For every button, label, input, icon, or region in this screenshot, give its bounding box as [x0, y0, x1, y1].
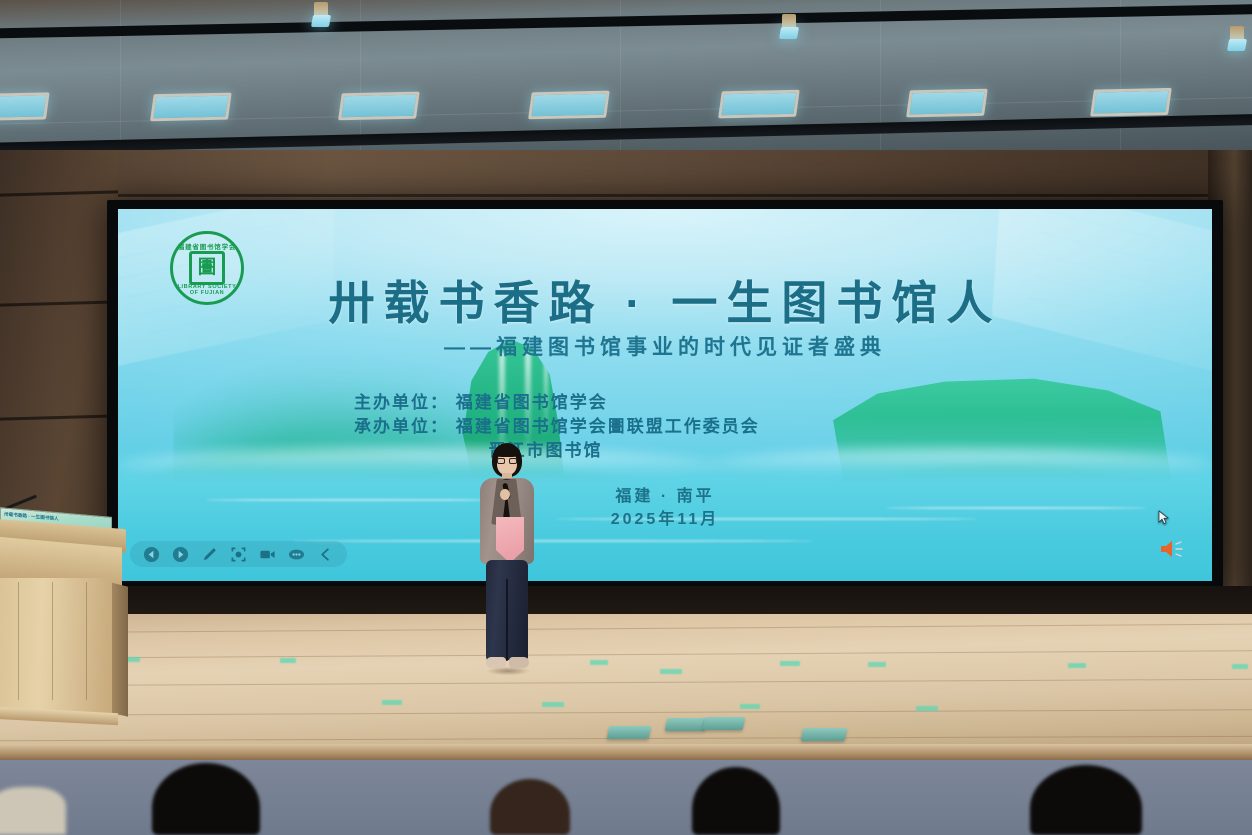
more-options-button[interactable]	[288, 546, 305, 563]
ceiling-spotlight	[780, 14, 798, 40]
collapse-toolbar-button[interactable]	[317, 546, 334, 563]
audience-head	[490, 779, 570, 835]
presenter-speaker	[470, 443, 542, 678]
ceiling-spotlight	[1228, 26, 1246, 52]
audience-head	[692, 767, 780, 835]
presentation-screen[interactable]: 福建省图书馆学会 圕 LIBRARY SOCIETY OF FUJIAN 卅载书…	[118, 209, 1212, 581]
stage-floor-plate	[607, 726, 652, 739]
stage-floor-plate	[665, 718, 708, 731]
next-slide-button[interactable]	[172, 546, 189, 563]
slide-place: 福建 · 南平 2025年11月	[118, 485, 1212, 531]
ceiling-spotlight	[312, 2, 330, 28]
pen-tool-button[interactable]	[201, 546, 218, 563]
laser-pointer-button[interactable]	[230, 546, 247, 563]
sound-speaker-icon[interactable]	[1158, 539, 1188, 559]
lectern-podium: 卅载书香路 · 一生图书馆人 ——福建图书馆事业的时代见证者盛典 主办单位：福建…	[0, 524, 144, 734]
stage-floor-plate	[703, 717, 746, 730]
audience-head	[1030, 765, 1142, 835]
slide-organizers: 主办单位： 福建省图书馆学会 承办单位： 福建省图书馆学会圕联盟工作委员会 晋江…	[354, 391, 760, 463]
audience-area	[0, 760, 1252, 835]
slide-title: 卅载书香路 · 一生图书馆人	[118, 267, 1212, 333]
audience-head	[152, 763, 260, 835]
auditorium-scene: 福建省图书馆学会 圕 LIBRARY SOCIETY OF FUJIAN 卅载书…	[0, 0, 1252, 835]
audience-shoulder	[0, 787, 66, 835]
led-screen-frame: 福建省图书馆学会 圕 LIBRARY SOCIETY OF FUJIAN 卅载书…	[107, 200, 1223, 592]
slide-place-date: 2025年11月	[118, 508, 1212, 531]
record-button[interactable]	[259, 546, 276, 563]
slide-place-location: 福建 · 南平	[118, 485, 1212, 508]
stage-floor	[0, 614, 1252, 760]
mouse-cursor	[1158, 510, 1170, 525]
presenter-glasses	[497, 458, 517, 464]
slide-subtitle: ——福建图书馆事业的时代见证者盛典	[118, 331, 1212, 361]
stage-floor-plate	[801, 728, 848, 741]
powerpoint-presentation-toolbar[interactable]	[130, 541, 347, 567]
slide-text-block: 卅载书香路 · 一生图书馆人 ——福建图书馆事业的时代见证者盛典 主办单位： 福…	[118, 209, 1212, 581]
previous-slide-button[interactable]	[143, 546, 160, 563]
